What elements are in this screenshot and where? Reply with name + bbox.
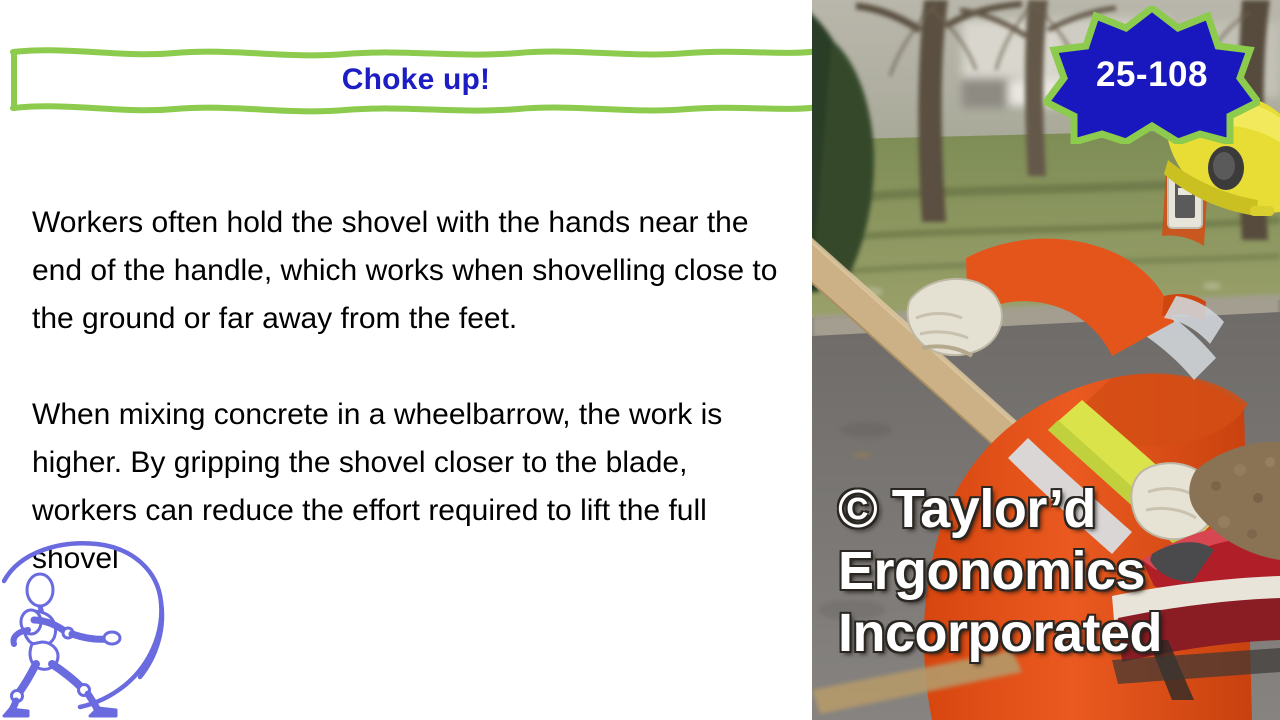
copyright-watermark: © Taylor’d Ergonomics Incorporated xyxy=(838,478,1280,664)
content-panel: Choke up! Workers often hold the shovel … xyxy=(0,0,812,720)
taylord-ergonomics-logo xyxy=(2,538,170,720)
badge-label: 25-108 xyxy=(1044,6,1260,144)
watermark-line-1: © Taylor’d xyxy=(838,478,1280,540)
page-title: Choke up! xyxy=(10,44,822,116)
watermark-line-3: Incorporated xyxy=(838,602,1280,664)
status-badge: 25-108 xyxy=(1044,6,1260,144)
watermark-line-2: Ergonomics xyxy=(838,540,1280,602)
slide: Choke up! Workers often hold the shovel … xyxy=(0,0,1280,720)
body-paragraph-1: Workers often hold the shovel with the h… xyxy=(32,199,792,343)
mannequin-pushing-circle-icon xyxy=(2,538,170,720)
title-box: Choke up! xyxy=(10,44,822,116)
